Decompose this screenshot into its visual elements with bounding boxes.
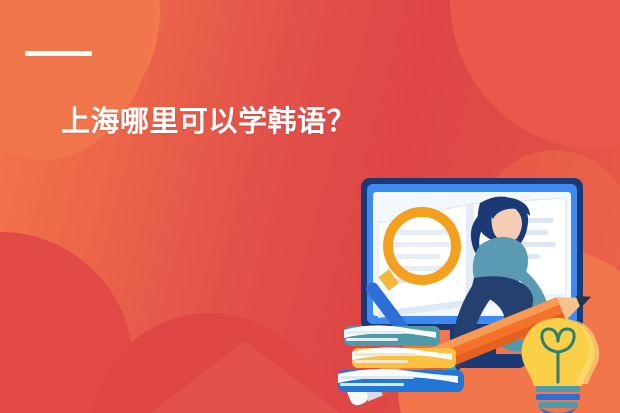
hero-illustration bbox=[330, 168, 620, 413]
bg-circle-bottom-mid bbox=[90, 313, 330, 413]
bg-wedge-bottom bbox=[150, 341, 340, 413]
book-stack-icon bbox=[338, 325, 464, 392]
bg-circle-top-right bbox=[450, 0, 620, 150]
bg-circle-bottom-left bbox=[0, 232, 133, 413]
page-title: 上海哪里可以学韩语？ bbox=[61, 103, 356, 141]
accent-rule bbox=[25, 51, 92, 56]
lightbulb-icon bbox=[522, 318, 600, 413]
promo-banner: 上海哪里可以学韩语？ bbox=[0, 0, 620, 413]
